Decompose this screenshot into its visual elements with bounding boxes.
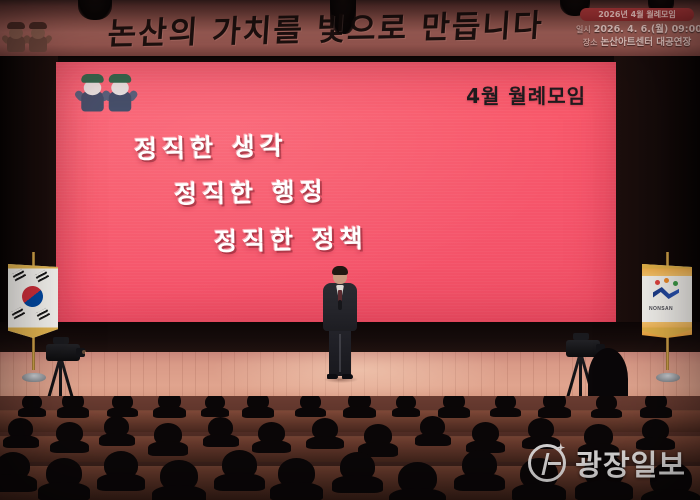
city-flag-icon: NONSAN [640,252,694,380]
event-datetime-label: 일시 [576,25,591,34]
speaker-with-microphone-icon [318,268,362,378]
watermark-brand: 광장일보 [575,442,686,484]
event-place-label: 장소 [583,38,598,47]
event-info-plaque: 2026년 4월 월례모임 일시2026. 4. 6.(월) 09:00 장소논… [576,8,698,52]
microphone-icon [338,300,342,310]
event-photo: 논산의 가치를 빛으로 만듭니다 2026년 4월 월례모임 일시2026. 4… [0,0,700,500]
ceiling-light-icon [78,0,112,20]
gwangjang-g-logo-icon [528,444,566,482]
calligraphy-line: 정직한 정책 [214,214,616,258]
soldier-mascot-icon [108,74,133,112]
event-place-value: 논산아트센터 대공연장 [601,37,692,48]
soldier-mascot-pair-icon [80,74,133,112]
slide-title: 4월 월례모임 [466,80,586,109]
event-datetime-value: 2026. 4. 6.(월) 09:00 [594,24,700,35]
event-pill-label: 2026년 4월 월례모임 [580,8,694,21]
banner-slogan: 논산의 가치를 빛으로 만듭니다 [106,3,560,58]
hall-banner: 논산의 가치를 빛으로 만듭니다 2026년 4월 월례모임 일시2026. 4… [0,0,700,62]
event-datetime-line: 일시2026. 4. 6.(월) 09:00 [576,23,698,36]
calligraphy-line: 정직한 행정 [174,167,616,211]
soldier-mascot-icon [28,22,48,52]
watermark: 광장일보 [528,442,686,484]
soldier-mascot-pair-icon [6,22,48,52]
sparkle-icon [556,443,565,452]
slide-calligraphy-block: 정직한 생각 정직한 행정 정직한 정책 [56,124,616,254]
event-place-line: 장소논산아트센터 대공연장 [576,36,698,49]
calligraphy-line: 정직한 생각 [134,118,616,167]
